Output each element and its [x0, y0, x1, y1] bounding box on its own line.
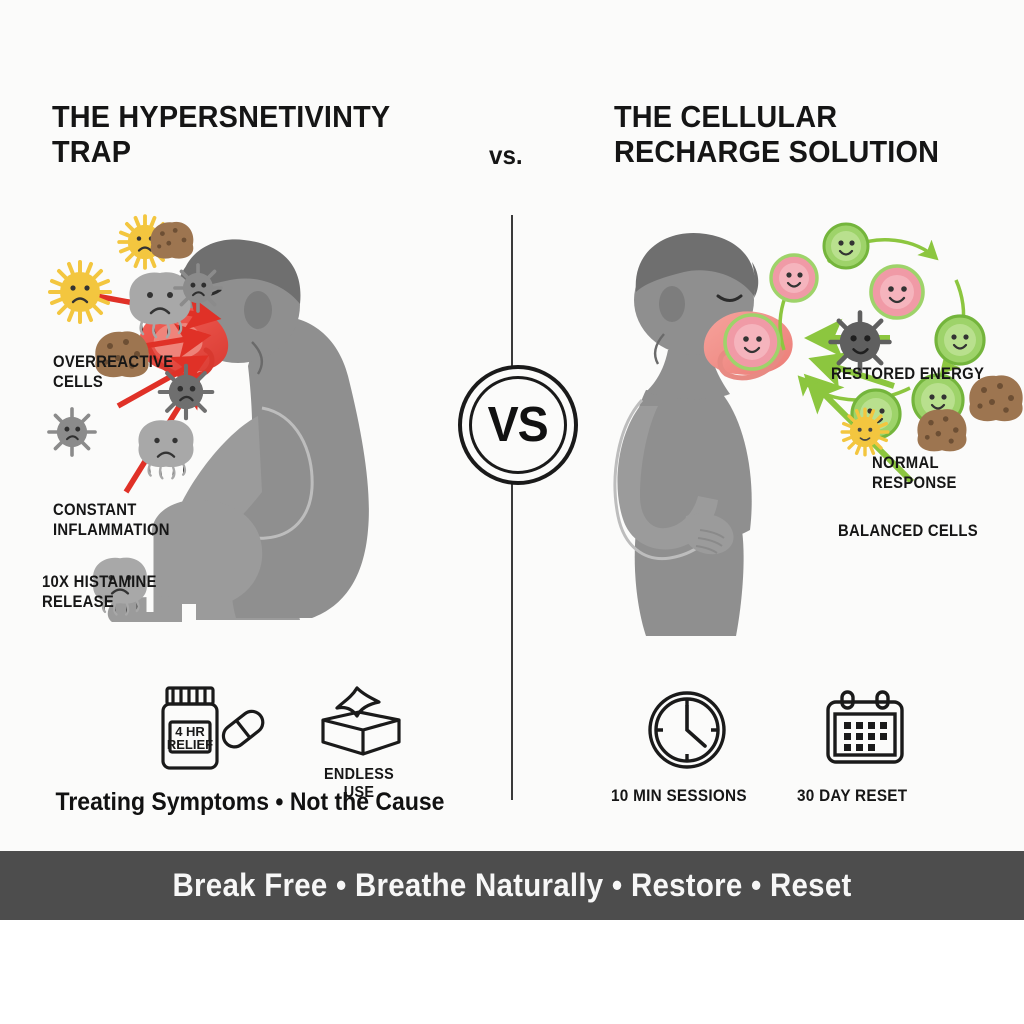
virus-sad-icon	[175, 265, 221, 311]
pollen-icon	[842, 409, 888, 455]
left-panel-title: THE HYPERSNETIVINTY TRAP	[52, 100, 405, 169]
clock-caption: 10 MIN SESSIONS	[611, 786, 747, 806]
clock-icon	[645, 688, 729, 772]
happy-cell-green-icon	[824, 224, 868, 268]
calendar-caption: 30 DAY RESET	[797, 786, 907, 806]
happy-cell-pink-icon	[725, 315, 779, 369]
happy-cell-pink-icon	[871, 266, 923, 318]
right-scene	[560, 200, 1024, 660]
label-restored-energy: RESTORED ENERGY	[831, 364, 984, 384]
label-balanced-cells: BALANCED CELLS	[838, 521, 978, 541]
cell-cycle-group	[725, 224, 1023, 455]
happy-cell-pink-icon	[771, 255, 817, 301]
label-histamine-release: 10X HISTAMINE RELEASE	[42, 572, 157, 612]
sad-cell-icon	[138, 420, 193, 478]
pill-bottle-line2: RELIEF	[167, 737, 213, 752]
dust-mite-icon	[151, 222, 194, 259]
calendar-icon	[822, 690, 908, 770]
tissue-box-icon	[313, 684, 405, 766]
label-constant-inflammation: CONSTANT INFLAMMATION	[53, 500, 170, 540]
dust-mite-icon	[917, 409, 966, 451]
bottom-white-strip	[0, 920, 1024, 1024]
left-tagline: Treating Symptoms • Not the Cause	[20, 788, 480, 817]
bottom-banner: Break Free • Breathe Naturally • Restore…	[0, 851, 1024, 920]
pill-bottle-icon: 4 HR RELIEF	[155, 684, 265, 784]
happy-cell-green-icon	[936, 316, 984, 364]
standing-person-figure	[615, 233, 793, 636]
pollen-angry-icon	[50, 262, 110, 322]
infographic-canvas: THE HYPERSNETIVINTY TRAP vs. THE CELLULA…	[0, 0, 1024, 1024]
label-normal-response: NORMAL RESPONSE	[872, 453, 957, 493]
versus-small-label: vs.	[489, 140, 523, 171]
virus-neutral-icon	[831, 313, 890, 372]
right-panel-title: THE CELLULAR RECHARGE SOLUTION	[614, 100, 986, 169]
virus-sad-icon	[49, 409, 95, 455]
banner-text: Break Free • Breathe Naturally • Restore…	[172, 867, 851, 904]
label-overreactive-cells: OVERREACTIVE CELLS	[53, 352, 173, 392]
